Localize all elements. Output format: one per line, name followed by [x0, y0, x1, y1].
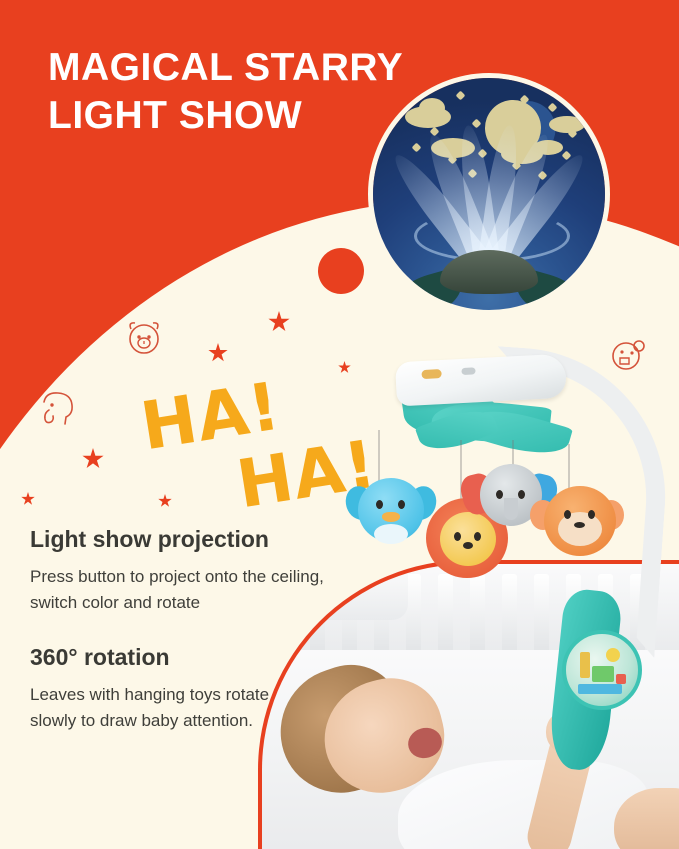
lion-face-outline-icon	[122, 318, 166, 360]
product-feature-poster: MAGICAL STARRY LIGHT SHOW	[0, 0, 679, 849]
feature-title: 360° rotation	[30, 644, 270, 671]
feature-title: Light show projection	[30, 526, 330, 553]
page-title: MAGICAL STARRY LIGHT SHOW	[48, 44, 468, 141]
projected-cloud	[549, 116, 585, 133]
feature-block-rotation: 360° rotation Leaves with hanging toys r…	[30, 644, 270, 735]
projected-star	[548, 103, 558, 113]
projected-star	[472, 119, 482, 129]
feature-body: Press button to project onto the ceiling…	[30, 564, 330, 617]
monkey-face-outline-icon	[608, 336, 648, 374]
baby-hand	[546, 710, 592, 754]
headline-line-2: LIGHT SHOW	[48, 92, 468, 140]
headline-line-1: MAGICAL STARRY	[48, 44, 468, 92]
feature-block-light-show: Light show projection Press button to pr…	[30, 526, 330, 617]
feature-body: Leaves with hanging toys rotate slowly t…	[30, 682, 270, 735]
elephant-outline-icon	[32, 388, 78, 430]
projected-star	[412, 143, 422, 153]
